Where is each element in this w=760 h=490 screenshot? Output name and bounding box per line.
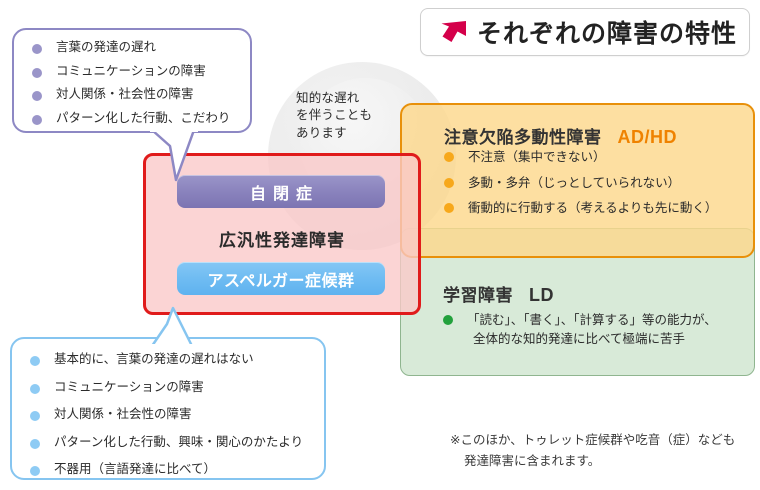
bullet-dot-icon — [30, 384, 40, 394]
bullet-dot-icon — [444, 178, 454, 188]
adhd-item-label: 多動・多弁（じっとしていられない） — [468, 176, 680, 190]
bullet-dot-icon — [30, 356, 40, 366]
asperger-badge: アスペルガー症候群 — [177, 262, 385, 295]
bullet-dot-icon — [30, 411, 40, 421]
pdd-label: 広汎性発達障害 — [146, 226, 418, 251]
adhd-item-label: 衝動的に行動する（考えるよりも先に動く） — [468, 201, 717, 215]
ld-feature-list: 「読む」、「書く」、「計算する」等の能力が、 全体的な知的発達に比べて極端に苦手 — [443, 311, 717, 350]
list-item: パターン化した行動、興味・関心のかたより — [30, 436, 303, 449]
list-item: 不注意（集中できない） — [444, 151, 717, 164]
arrow-down-left-icon — [437, 17, 471, 47]
autism-feature-list: 言葉の発達の遅れ コミュニケーションの障害 対人関係・社会性の障害 パターン化し… — [32, 41, 230, 135]
asperger-item-label: 基本的に、言葉の発達の遅れはない — [54, 352, 254, 366]
asperger-item-label: コミュニケーションの障害 — [54, 380, 204, 394]
ld-item-label-line-1: 「読む」、「書く」、「計算する」等の能力が、 — [467, 313, 717, 327]
footnote: ※このほか、トゥレット症候群や吃音（症）なども 発達障害に含まれます。 — [450, 430, 750, 471]
asperger-item-label: 不器用（言語発達に比べて） — [54, 462, 216, 476]
intellectual-delay-note-line-1: 知的な遅れ — [296, 90, 408, 107]
list-item: 対人関係・社会性の障害 — [32, 88, 230, 101]
autism-item-label: コミュニケーションの障害 — [56, 64, 206, 78]
list-item: 「読む」、「書く」、「計算する」等の能力が、 全体的な知的発達に比べて極端に苦手 — [443, 311, 717, 350]
asperger-feature-list: 基本的に、言葉の発達の遅れはない コミュニケーションの障害 対人関係・社会性の障… — [30, 353, 303, 490]
autism-item-label: パターン化した行動、こだわり — [56, 111, 230, 125]
bullet-dot-icon — [32, 115, 42, 125]
bullet-dot-icon — [32, 68, 42, 78]
list-item: コミュニケーションの障害 — [30, 381, 303, 394]
title-banner: それぞれの障害の特性 — [420, 8, 750, 56]
footnote-line-1: ※このほか、トゥレット症候群や吃音（症）なども — [450, 433, 735, 447]
list-item: 多動・多弁（じっとしていられない） — [444, 177, 717, 190]
bullet-dot-icon — [444, 203, 454, 213]
intellectual-delay-note: 知的な遅れ を伴うことも あります — [296, 90, 408, 142]
footnote-line-2: 発達障害に含まれます。 — [450, 451, 750, 472]
list-item: コミュニケーションの障害 — [32, 65, 230, 78]
list-item: 衝動的に行動する（考えるよりも先に動く） — [444, 202, 717, 215]
asperger-callout: 基本的に、言葉の発達の遅れはない コミュニケーションの障害 対人関係・社会性の障… — [10, 337, 326, 480]
list-item: パターン化した行動、こだわり — [32, 112, 230, 125]
bullet-dot-icon — [30, 439, 40, 449]
adhd-panel: 注意欠陥多動性障害AD/HD 不注意（集中できない） 多動・多弁（じっとしていら… — [400, 103, 755, 258]
asperger-item-label: 対人関係・社会性の障害 — [54, 407, 192, 421]
intellectual-delay-note-line-2: を伴うことも — [296, 107, 408, 124]
list-item: 不器用（言語発達に比べて） — [30, 463, 303, 476]
diagram-canvas: 知的な遅れ を伴うことも あります それぞれの障害の特性 注意欠陥多動性障害AD… — [0, 0, 760, 490]
page-title: それぞれの障害の特性 — [477, 14, 737, 50]
intellectual-delay-note-line-3: あります — [296, 125, 408, 142]
list-item: 対人関係・社会性の障害 — [30, 408, 303, 421]
pdd-panel: 自閉症 広汎性発達障害 アスペルガー症候群 — [143, 153, 421, 315]
asperger-item-label: パターン化した行動、興味・関心のかたより — [54, 435, 303, 449]
ld-item-label-line-2: 全体的な知的発達に比べて極端に苦手 — [467, 330, 717, 349]
adhd-title-en: AD/HD — [618, 127, 678, 147]
bullet-dot-icon — [443, 315, 453, 325]
bullet-dot-icon — [444, 152, 454, 162]
ld-heading: 学習障害LD — [443, 281, 554, 306]
list-item: 言葉の発達の遅れ — [32, 41, 230, 54]
autism-callout: 言葉の発達の遅れ コミュニケーションの障害 対人関係・社会性の障害 パターン化し… — [12, 28, 252, 133]
adhd-feature-list: 不注意（集中できない） 多動・多弁（じっとしていられない） 衝動的に行動する（考… — [444, 151, 717, 228]
autism-item-label: 言葉の発達の遅れ — [56, 40, 156, 54]
adhd-item-label: 不注意（集中できない） — [468, 150, 606, 164]
bullet-dot-icon — [32, 44, 42, 54]
ld-title-jp: 学習障害 — [443, 286, 513, 305]
list-item: 基本的に、言葉の発達の遅れはない — [30, 353, 303, 366]
autism-badge: 自閉症 — [177, 175, 385, 208]
adhd-heading: 注意欠陥多動性障害AD/HD — [444, 123, 677, 148]
ld-title-en: LD — [529, 285, 554, 305]
autism-item-label: 対人関係・社会性の障害 — [56, 87, 194, 101]
adhd-title-jp: 注意欠陥多動性障害 — [444, 128, 602, 147]
bullet-dot-icon — [32, 91, 42, 101]
bullet-dot-icon — [30, 466, 40, 476]
